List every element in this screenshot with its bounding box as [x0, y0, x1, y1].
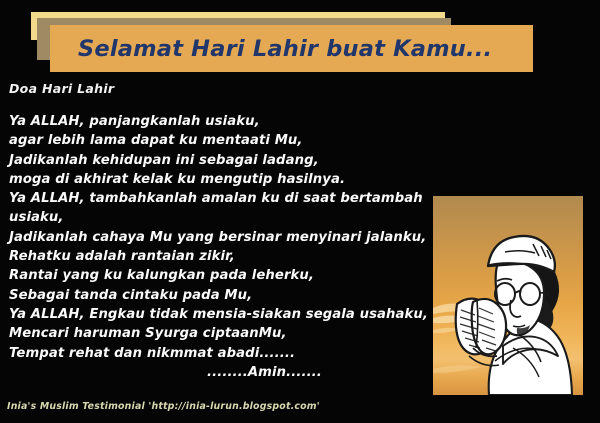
poem-line: Sebagai tanda cintaku pada Mu,	[9, 286, 429, 305]
poem-line: Tempat rehat dan nikmmat abadi.......	[9, 344, 429, 363]
poem-line: Ya ALLAH, tambahkanlah amalan ku di saat…	[9, 189, 429, 208]
poem-line: Mencari haruman Syurga ciptaanMu,	[9, 324, 429, 343]
poem-line: Rehatku adalah rantaian zikir,	[9, 247, 429, 266]
section-subheading: Doa Hari Lahir	[9, 81, 114, 96]
poem-line: Rantai yang ku kalungkan pada leherku,	[9, 266, 429, 285]
praying-man-icon	[433, 196, 583, 395]
page-title: Selamat Hari Lahir buat Kamu...	[78, 29, 528, 69]
poem-line: usiaku,	[9, 208, 429, 227]
praying-man-illustration	[433, 196, 583, 395]
poem-line: moga di akhirat kelak ku mengutip hasiln…	[9, 170, 429, 189]
poem-line: Ya ALLAH, Engkau tidak mensia-siakan seg…	[9, 305, 429, 324]
footer-credit: Inia's Muslim Testimonial 'http://inia-l…	[7, 401, 320, 412]
poem-line: agar lebih lama dapat ku mentaati Mu,	[9, 131, 429, 150]
poem-line: Jadikanlah cahaya Mu yang bersinar menyi…	[9, 228, 429, 247]
prayer-text-block: Ya ALLAH, panjangkanlah usiaku, agar leb…	[9, 112, 429, 382]
slide-canvas: Selamat Hari Lahir buat Kamu... Doa Hari…	[0, 0, 600, 423]
poem-line: Jadikanlah kehidupan ini sebagai ladang,	[9, 151, 429, 170]
poem-closing-line: ........Amin.......	[9, 363, 429, 382]
poem-line: Ya ALLAH, panjangkanlah usiaku,	[9, 112, 429, 131]
